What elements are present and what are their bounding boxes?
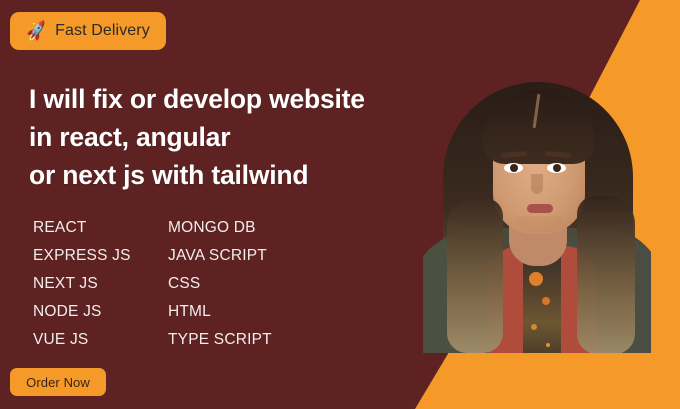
fast-delivery-badge[interactable]: 🚀 Fast Delivery: [10, 12, 166, 50]
portrait-photo-content: [423, 78, 651, 353]
skill-item: HTML: [168, 298, 272, 326]
hair-strand-right: [577, 196, 635, 353]
nose: [531, 174, 543, 194]
skills-list: REACT EXPRESS JS NEXT JS NODE JS VUE JS …: [33, 214, 272, 354]
fast-delivery-label: Fast Delivery: [55, 22, 150, 40]
gig-thumbnail-canvas: 🚀 Fast Delivery I will fix or develop we…: [0, 0, 680, 409]
skill-item: NODE JS: [33, 298, 168, 326]
skill-item: JAVA SCRIPT: [168, 242, 272, 270]
skill-item: REACT: [33, 214, 168, 242]
skill-item: EXPRESS JS: [33, 242, 168, 270]
portrait-photo: [423, 78, 651, 353]
skills-column-right: MONGO DB JAVA SCRIPT CSS HTML TYPE SCRIP…: [168, 214, 272, 354]
eye-right: [547, 163, 566, 173]
skill-item: NEXT JS: [33, 270, 168, 298]
headline: I will fix or develop website in react, …: [29, 80, 365, 194]
hair-strand-left: [447, 198, 503, 353]
order-now-button[interactable]: Order Now: [10, 368, 106, 396]
skills-column-left: REACT EXPRESS JS NEXT JS NODE JS VUE JS: [33, 214, 168, 354]
headline-line-3: or next js with tailwind: [29, 156, 365, 194]
skill-item: VUE JS: [33, 326, 168, 354]
rocket-icon: 🚀: [25, 21, 49, 41]
eye-left: [504, 163, 523, 173]
headline-line-1: I will fix or develop website: [29, 80, 365, 118]
mouth: [527, 204, 553, 213]
skill-item: MONGO DB: [168, 214, 272, 242]
skill-item: TYPE SCRIPT: [168, 326, 272, 354]
skill-item: CSS: [168, 270, 272, 298]
headline-line-2: in react, angular: [29, 118, 365, 156]
